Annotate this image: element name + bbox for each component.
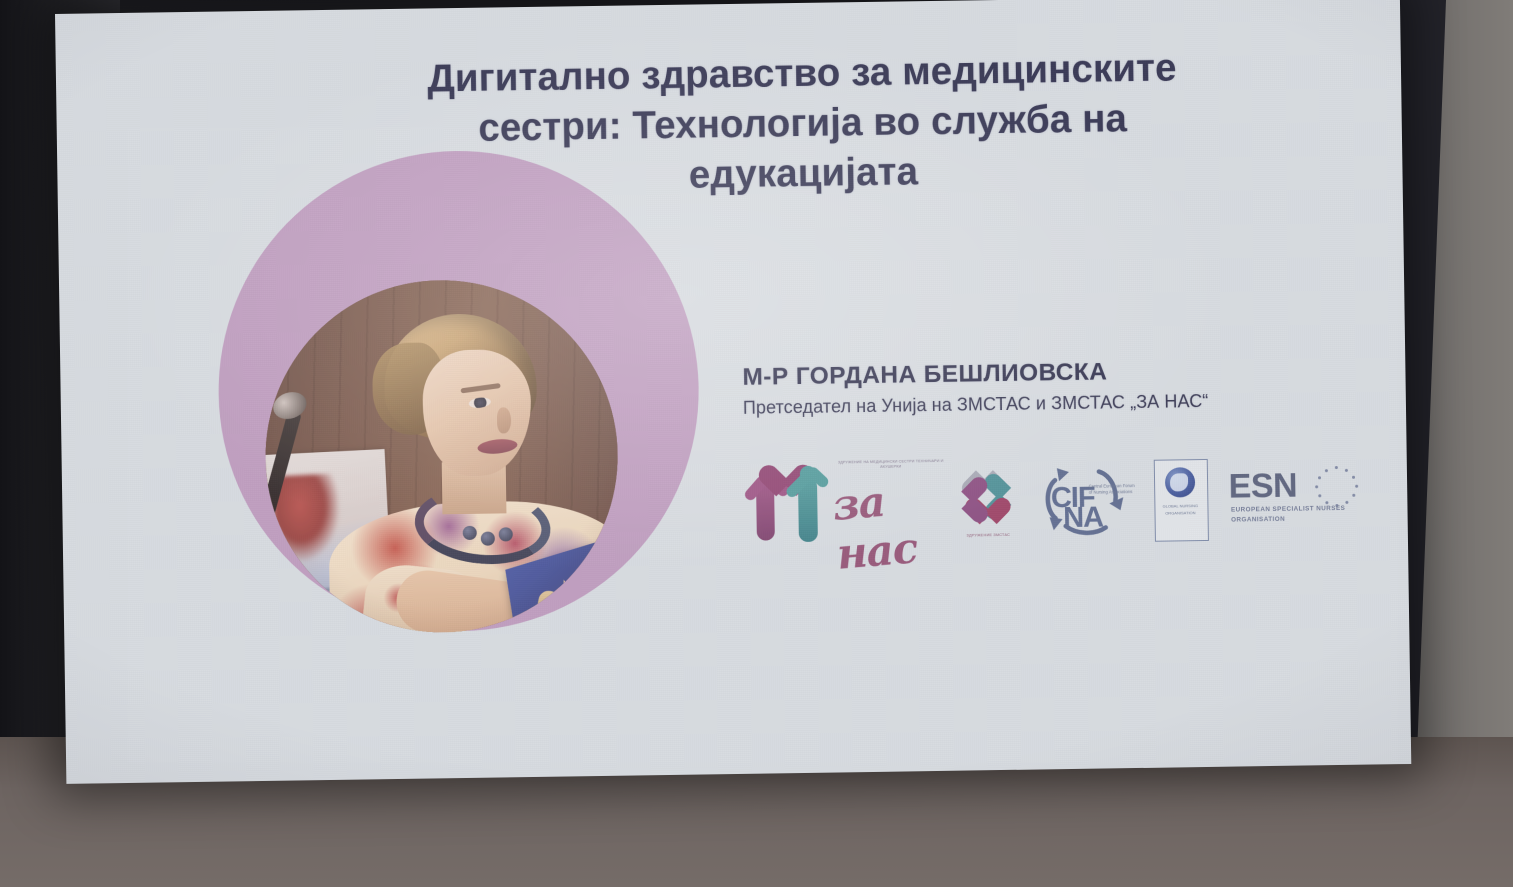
room-photo: Дигитално здравство за медицинските сест… (0, 0, 1513, 887)
za-nas-logo: ЗДРУЖЕНИЕ НА МЕДИЦИНСКИ СЕСТРИ ТЕХНИЧАРИ… (742, 458, 936, 551)
presenter-block: М-Р ГОРДАНА БЕШЛИОВСКА Претседател на Ун… (742, 355, 1363, 419)
presentation-slide: Дигитално здравство за медицинските сест… (55, 0, 1411, 784)
necklace-bead (499, 527, 513, 541)
four-hearts-clover-logo: ЗДРУЖЕНИЕ ЗМСТАС (952, 457, 1017, 548)
cifna-logo: CIF NA Central European Forum of Nursing… (1034, 457, 1131, 544)
za-nas-caption: ЗДРУЖЕНИЕ НА МЕДИЦИНСКИ СЕСТРИ ТЕХНИЧАРИ… (834, 459, 948, 471)
portrait-nose (497, 407, 511, 433)
globe-card-subtext: GLOBAL NURSING ORGANISATION (1156, 503, 1204, 517)
presenter-role: Претседател на Унија на ЗМСТАС и ЗМСТАС … (743, 389, 1363, 419)
za-nas-wordmark: за нас (831, 473, 939, 579)
esn-wordmark: ESN (1228, 467, 1297, 507)
projection-screen: Дигитално здравство за медицинските сест… (55, 0, 1411, 784)
necklace-bead (463, 526, 477, 540)
logo-strip: ЗДРУЖЕНИЕ НА МЕДИЦИНСКИ СЕСТРИ ТЕХНИЧАРИ… (742, 447, 1363, 556)
esn-subtext: EUROPEAN SPECIALIST NURSES ORGANISATION (1231, 504, 1369, 526)
heart-icon-left (957, 483, 987, 513)
cifna-wordmark-bottom: NA (1063, 502, 1103, 536)
presenter-name: М-Р ГОРДАНА БЕШЛИОВСКА (742, 355, 1362, 392)
clover-caption: ЗДРУЖЕНИЕ ЗМСТАС (953, 533, 1023, 538)
presenter-portrait (263, 278, 620, 635)
slide-title: Дигитално здравство за медицинските сест… (342, 42, 1264, 206)
poster-red-shape (272, 473, 342, 562)
necklace-bead (481, 532, 495, 546)
globe-card-logo: GLOBAL NURSING ORGANISATION (1148, 457, 1208, 542)
esn-logo: ESN EUROPEAN SPECIALIST NURSES ORGANISAT… (1224, 458, 1363, 538)
eu-stars-circle-icon (1316, 466, 1357, 507)
cifna-subtext: Central European Forum of Nursing Associ… (1089, 483, 1137, 496)
